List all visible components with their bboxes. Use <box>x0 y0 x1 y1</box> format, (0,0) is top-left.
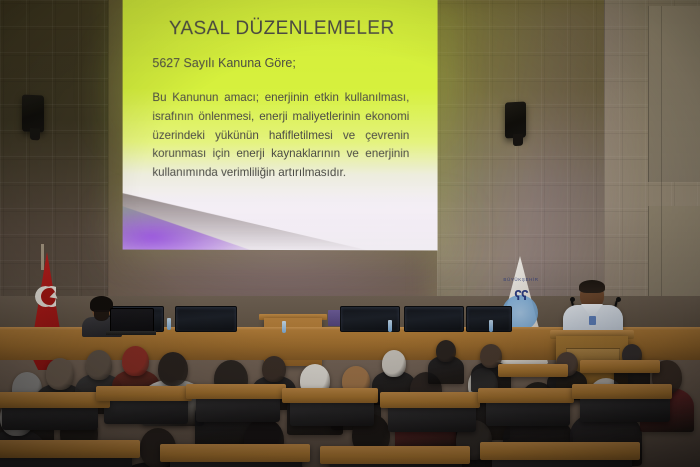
conference-hall-photo: YASAL DÜZENLEMELER 5627 Sayılı Kanuna Gö… <box>0 0 700 467</box>
water-bottle <box>167 318 171 330</box>
presenter-hair <box>579 280 605 293</box>
wooden-bench <box>282 388 378 403</box>
water-bottle <box>489 320 493 332</box>
water-bottle <box>282 321 286 333</box>
microphone-head-left <box>570 297 575 302</box>
presenter-badge <box>589 316 596 325</box>
wall-speaker-right-icon <box>505 101 526 138</box>
wall-door-upper <box>648 6 700 182</box>
slide-body-text: Bu Kanunun amacı; enerjinin etkin kullan… <box>152 89 409 183</box>
wall-door-seam <box>661 6 662 310</box>
wooden-bench <box>478 388 574 403</box>
wooden-bench <box>580 360 660 373</box>
dais-monitor-4 <box>404 306 464 332</box>
slide-title: YASAL DÜZENLEMELER <box>148 18 415 41</box>
audience-head <box>46 358 74 390</box>
audience-head <box>436 340 456 362</box>
wooden-bench <box>380 392 480 408</box>
audience-head <box>122 346 149 376</box>
wall-door-lower <box>648 206 700 310</box>
audience-head <box>262 356 286 382</box>
flag-star-icon <box>50 291 59 298</box>
wooden-bench <box>572 384 672 399</box>
wooden-bench <box>186 384 286 399</box>
microphone-head-right <box>616 297 621 302</box>
audience-head <box>382 350 406 377</box>
wooden-bench <box>160 444 310 462</box>
dais-monitor-2 <box>175 306 237 332</box>
projection-screen: YASAL DÜZENLEMELER 5627 Sayılı Kanuna Gö… <box>123 0 438 250</box>
water-bottle <box>388 320 392 332</box>
presentation-slide: YASAL DÜZENLEMELER 5627 Sayılı Kanuna Gö… <box>123 0 438 250</box>
wooden-bench <box>96 386 192 401</box>
wooden-bench <box>0 392 110 408</box>
audience-head <box>86 350 112 380</box>
wall-texture-left <box>0 0 108 330</box>
banner-text-top: BÜYÜKŞEHİR <box>496 277 546 282</box>
wall-speaker-left-icon <box>22 94 44 132</box>
wooden-bench <box>0 440 140 458</box>
flag-pole <box>41 244 44 270</box>
technician-beard <box>94 310 109 321</box>
slide-subtitle: 5627 Sayılı Kanuna Göre; <box>152 56 415 70</box>
wooden-bench <box>320 446 470 464</box>
laptop-base <box>106 331 156 335</box>
audience-head <box>158 352 188 386</box>
wooden-bench <box>480 442 640 460</box>
wooden-bench <box>498 364 568 377</box>
slide-content: YASAL DÜZENLEMELER 5627 Sayılı Kanuna Gö… <box>123 0 438 183</box>
